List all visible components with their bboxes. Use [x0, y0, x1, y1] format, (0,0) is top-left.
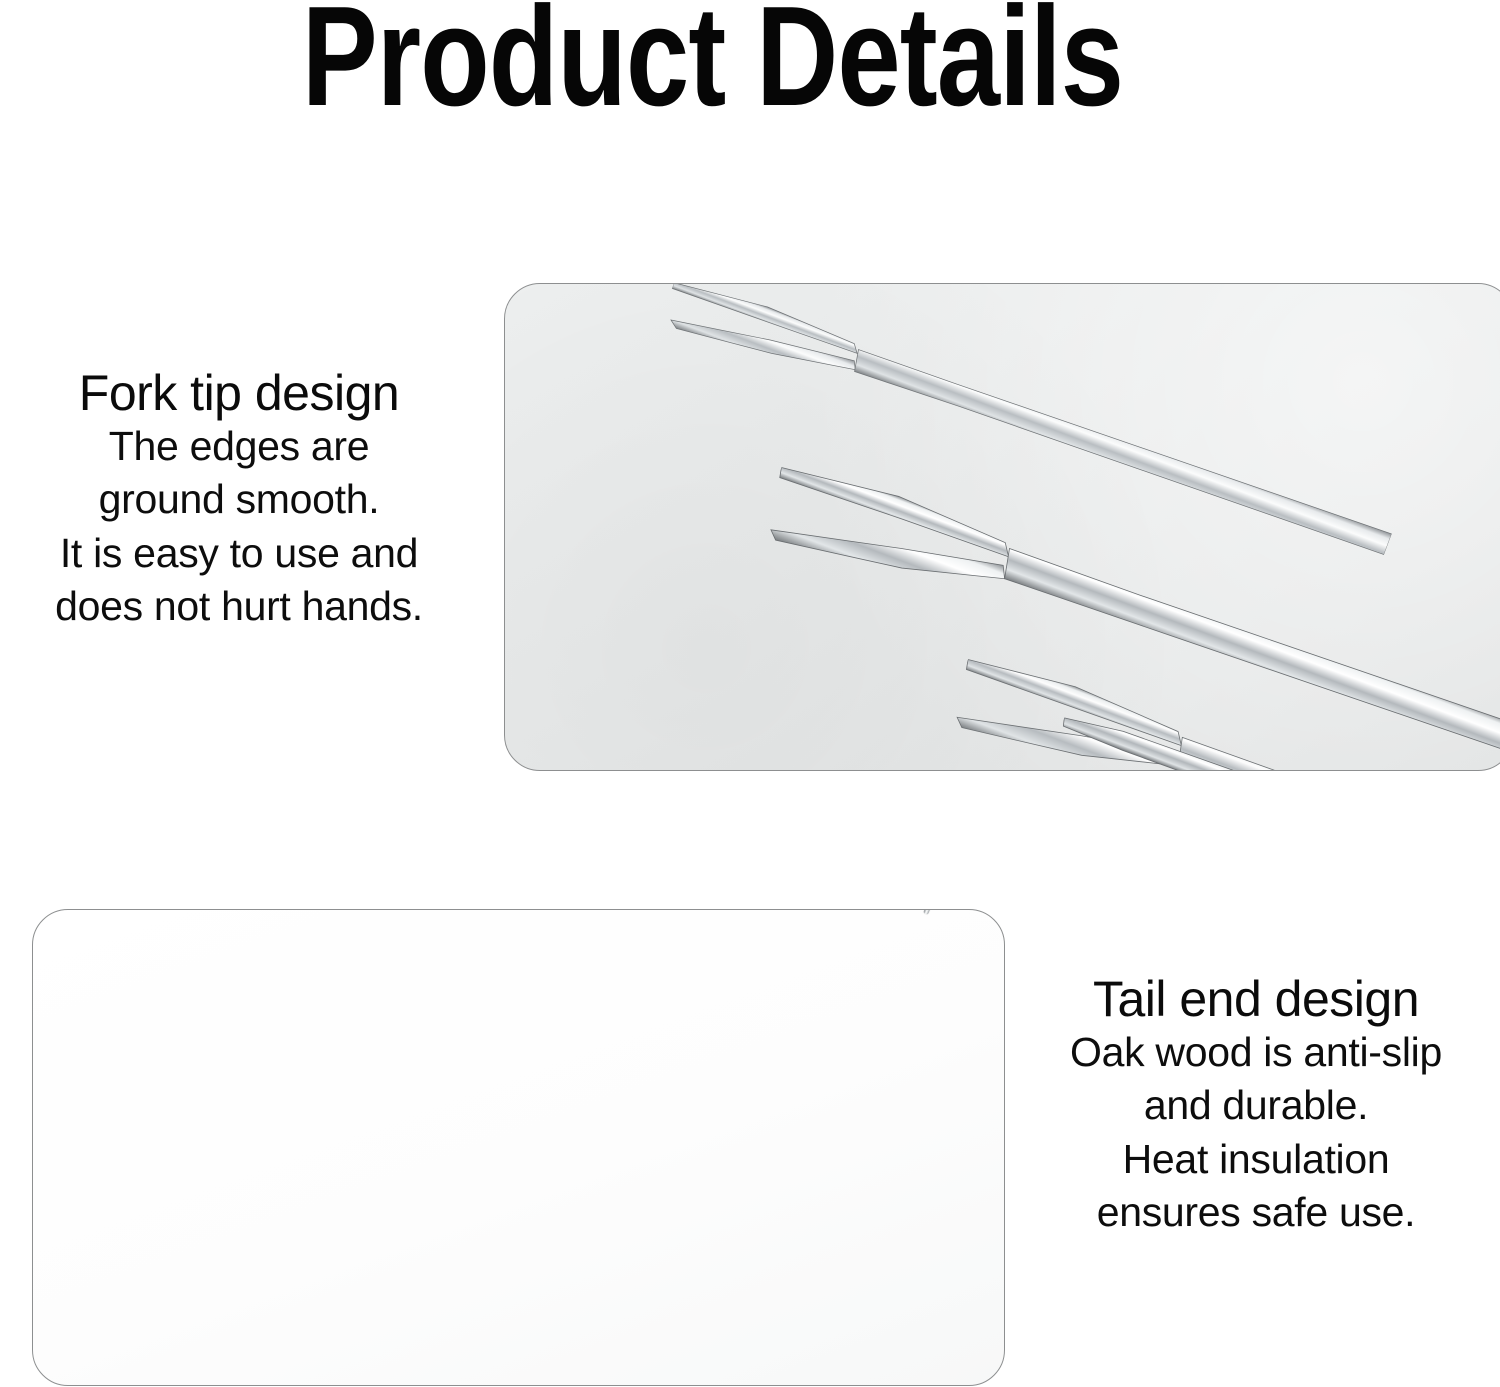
- tail-end-copy-block: Tail end design Oak wood is anti-slip an…: [1012, 972, 1500, 1239]
- fork-tip-photo-panel: [504, 283, 1500, 771]
- tail-end-body-line: Heat insulation: [1012, 1133, 1500, 1186]
- fork-tip-headline: Fork tip design: [0, 366, 478, 420]
- fork-tip-body-line: The edges are: [0, 420, 478, 473]
- tail-end-body-line: Oak wood is anti-slip: [1012, 1026, 1500, 1079]
- fork-tip-body-line: ground smooth.: [0, 473, 478, 526]
- fork-tip-body-line: does not hurt hands.: [0, 580, 478, 633]
- fork-tip-body-line: It is easy to use and: [0, 527, 478, 580]
- tail-end-photo-panel: [32, 909, 1005, 1386]
- fork-tip-copy-block: Fork tip design The edges are ground smo…: [0, 366, 478, 633]
- tail-end-body-line: ensures safe use.: [1012, 1186, 1500, 1239]
- tail-end-headline: Tail end design: [1012, 972, 1500, 1026]
- tail-end-body-line: and durable.: [1012, 1079, 1500, 1132]
- page-title: Product Details: [143, 0, 1283, 128]
- handle-rod: [924, 909, 1005, 915]
- handle-item: [897, 909, 1005, 926]
